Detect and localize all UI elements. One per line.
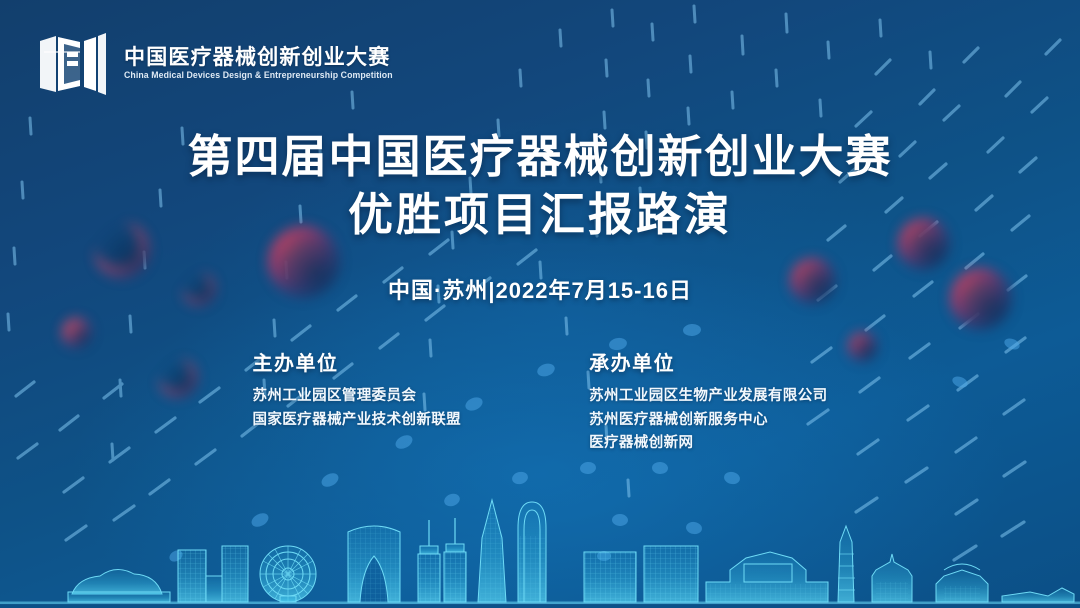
headline-line-2: 优胜项目汇报路演 [0,186,1080,244]
organizers: 主办单位 苏州工业园区管理委员会 国家医疗器械产业技术创新联盟 承办单位 苏州工… [0,347,1080,455]
organizer-coorganizer: 承办单位 苏州工业园区生物产业发展有限公司 苏州医疗器械创新服务中心 医疗器械创… [589,347,827,455]
organizer-coorganizer-entity-1: 苏州工业园区生物产业发展有限公司 [589,385,827,408]
event-location-date: 中国·苏州|2022年7月15-16日 [0,273,1080,305]
organizer-coorganizer-role: 承办单位 [589,347,827,376]
suzhou-skyline-wireframe-icon [0,458,1080,608]
headline-line-1: 第四届中国医疗器械创新创业大赛 [187,131,892,182]
organizer-host-entity-2: 国家医疗器械产业技术创新联盟 [252,409,461,432]
organizer-host: 主办单位 苏州工业园区管理委员会 国家医疗器械产业技术创新联盟 [252,347,461,455]
organizer-host-role: 主办单位 [252,347,461,376]
poster-content: 第四届中国医疗器械创新创业大赛 优胜项目汇报路演 中国·苏州|2022年7月15… [0,0,1080,456]
event-poster: 中国医疗器械创新创业大赛 China Medical Devices Desig… [0,0,1080,608]
organizer-coorganizer-entity-2: 苏州医疗器械创新服务中心 [589,409,827,432]
organizer-host-entity-1: 苏州工业园区管理委员会 [252,385,461,408]
organizer-coorganizer-entity-3: 医疗器械创新网 [589,432,827,455]
page-title: 第四届中国医疗器械创新创业大赛 优胜项目汇报路演 [0,0,1080,243]
